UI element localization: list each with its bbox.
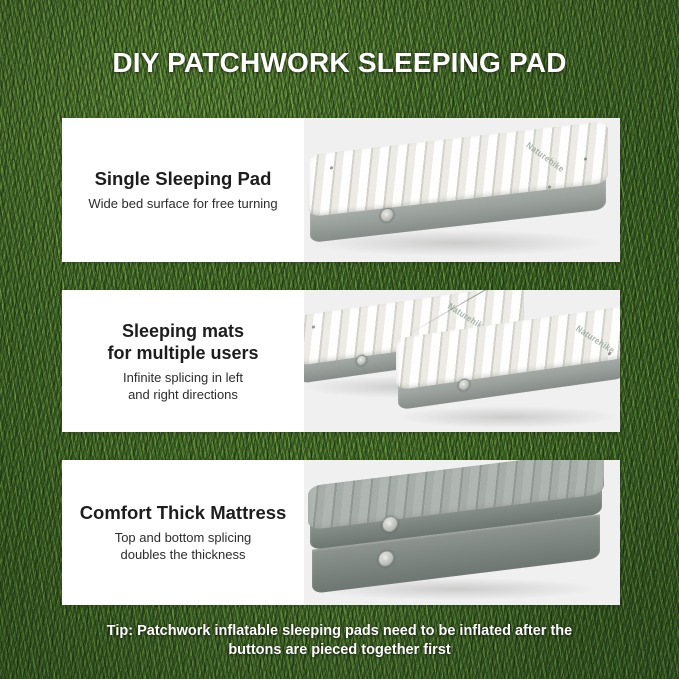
feature-card-thick-mattress: Comfort Thick Mattress Top and bottom sp…	[62, 460, 620, 605]
footer-tip-line-2: buttons are pieced together first	[228, 642, 450, 658]
card-subtitle: Top and bottom splicing doubles the thic…	[115, 529, 252, 563]
card-heading-line-2: for multiple users	[107, 343, 258, 363]
card-text-block: Comfort Thick Mattress Top and bottom sp…	[62, 460, 304, 605]
card-subtitle-line-1: Top and bottom splicing	[115, 530, 252, 545]
card-heading: Comfort Thick Mattress	[80, 502, 287, 524]
card-subtitle-line-2: doubles the thickness	[120, 547, 245, 562]
card-heading: Sleeping mats for multiple users	[107, 320, 258, 364]
card-text-block: Sleeping mats for multiple users Infinit…	[62, 290, 304, 432]
card-product-image-stacked-pads	[304, 460, 620, 605]
page-title: DIY PATCHWORK SLEEPING PAD	[0, 46, 679, 80]
card-subtitle: Wide bed surface for free turning	[88, 195, 277, 212]
card-text-block: Single Sleeping Pad Wide bed surface for…	[62, 118, 304, 262]
card-product-image-two-pads: Naturehike Naturehike	[304, 290, 620, 432]
card-heading: Single Sleeping Pad	[95, 168, 272, 190]
card-subtitle-line-1: Infinite splicing in left	[123, 370, 243, 385]
card-heading-line-1: Sleeping mats	[122, 321, 244, 341]
feature-card-single-pad: Single Sleeping Pad Wide bed surface for…	[62, 118, 620, 262]
footer-tip-line-1: Tip: Patchwork inflatable sleeping pads …	[107, 623, 572, 639]
card-subtitle-line-2: and right directions	[128, 387, 238, 402]
feature-card-multiple-users: Sleeping mats for multiple users Infinit…	[62, 290, 620, 432]
footer-tip: Tip: Patchwork inflatable sleeping pads …	[40, 622, 639, 660]
card-subtitle: Infinite splicing in left and right dire…	[123, 369, 243, 403]
card-product-image-single-pad: Naturehike	[304, 118, 620, 262]
